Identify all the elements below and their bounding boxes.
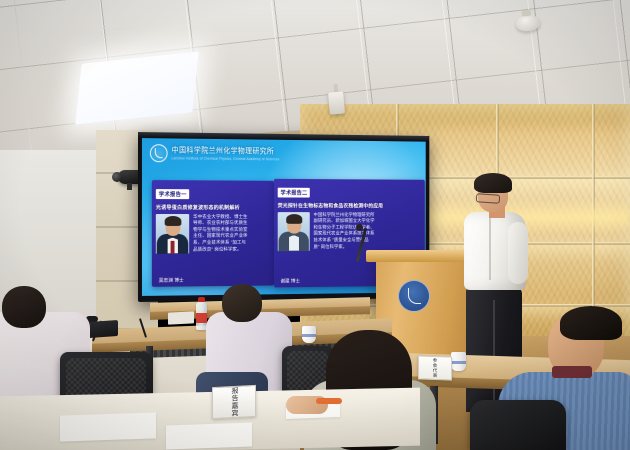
microphone-head-icon [356,224,363,231]
institute-logo-icon [150,144,168,162]
document-paper[interactable] [166,422,252,449]
card-tag-two: 学术报告二 [278,188,311,198]
speaker-portrait-one [156,214,189,254]
audience-hair [560,306,622,340]
placard-text: 报告嘉宾 [229,387,239,418]
paper-cup[interactable] [451,352,466,371]
speaker-arm [508,222,528,284]
speaker-portrait-two [278,212,310,251]
ceiling-projector-icon [328,91,345,114]
slide-card-report-one: 学术报告一 光诱导蛋白质修复波形态的机制解析 华中农业大学教授、博士生 导师、农… [152,180,274,287]
paper-cup[interactable] [302,326,316,343]
name-placard-2: 参会代表 [418,355,452,380]
slide-title-en: Lanzhou Institute of Chemical Physics, C… [172,156,280,161]
institute-emblem-icon [398,280,430,312]
speaker-bio-one: 华中农业大学教授、博士生 导师、农业农村部与优质生 物学与生物技术重点实验室 主… [193,214,270,254]
desk-equipment [168,311,194,324]
slide-title-cn: 中国科学院兰州化学物理研究所 [172,147,280,155]
conference-room-photo: 中国科学院兰州化学物理研究所 Lanzhou Institute of Chem… [0,0,630,450]
card-subtitle-one: 光诱导蛋白质修复波形态的机制解析 [156,204,270,211]
speaker-hair [474,173,512,193]
card-tag-one: 学术报告一 [156,189,190,199]
speaker-bio-two: 中国科学院兰州化学物理研究所 副研究员、新加坡国立大学化学 和生物分子工程学院访… [314,212,422,251]
audience-head [222,284,262,322]
card-subtitle-two: 荧光探针在生物标志物和食品农残检测中的应用 [278,202,421,209]
document-paper[interactable] [60,412,156,441]
audience-head [2,286,46,328]
glasses-icon [476,193,501,204]
bio-line: 品质改良" 岗位科学家。 [193,246,270,253]
office-chair[interactable] [470,400,566,450]
audience-collar [552,366,592,378]
name-placard-1: 报告嘉宾 [212,385,256,419]
placard-text: 参会代表 [432,358,438,378]
speaker-name-two: 谢建 博士 [281,277,300,284]
slide-header: 中国科学院兰州化学物理研究所 Lanzhou Institute of Chem… [150,142,323,165]
speaker-name-one: 吴忠渊 博士 [159,277,184,284]
pen[interactable] [316,398,342,404]
